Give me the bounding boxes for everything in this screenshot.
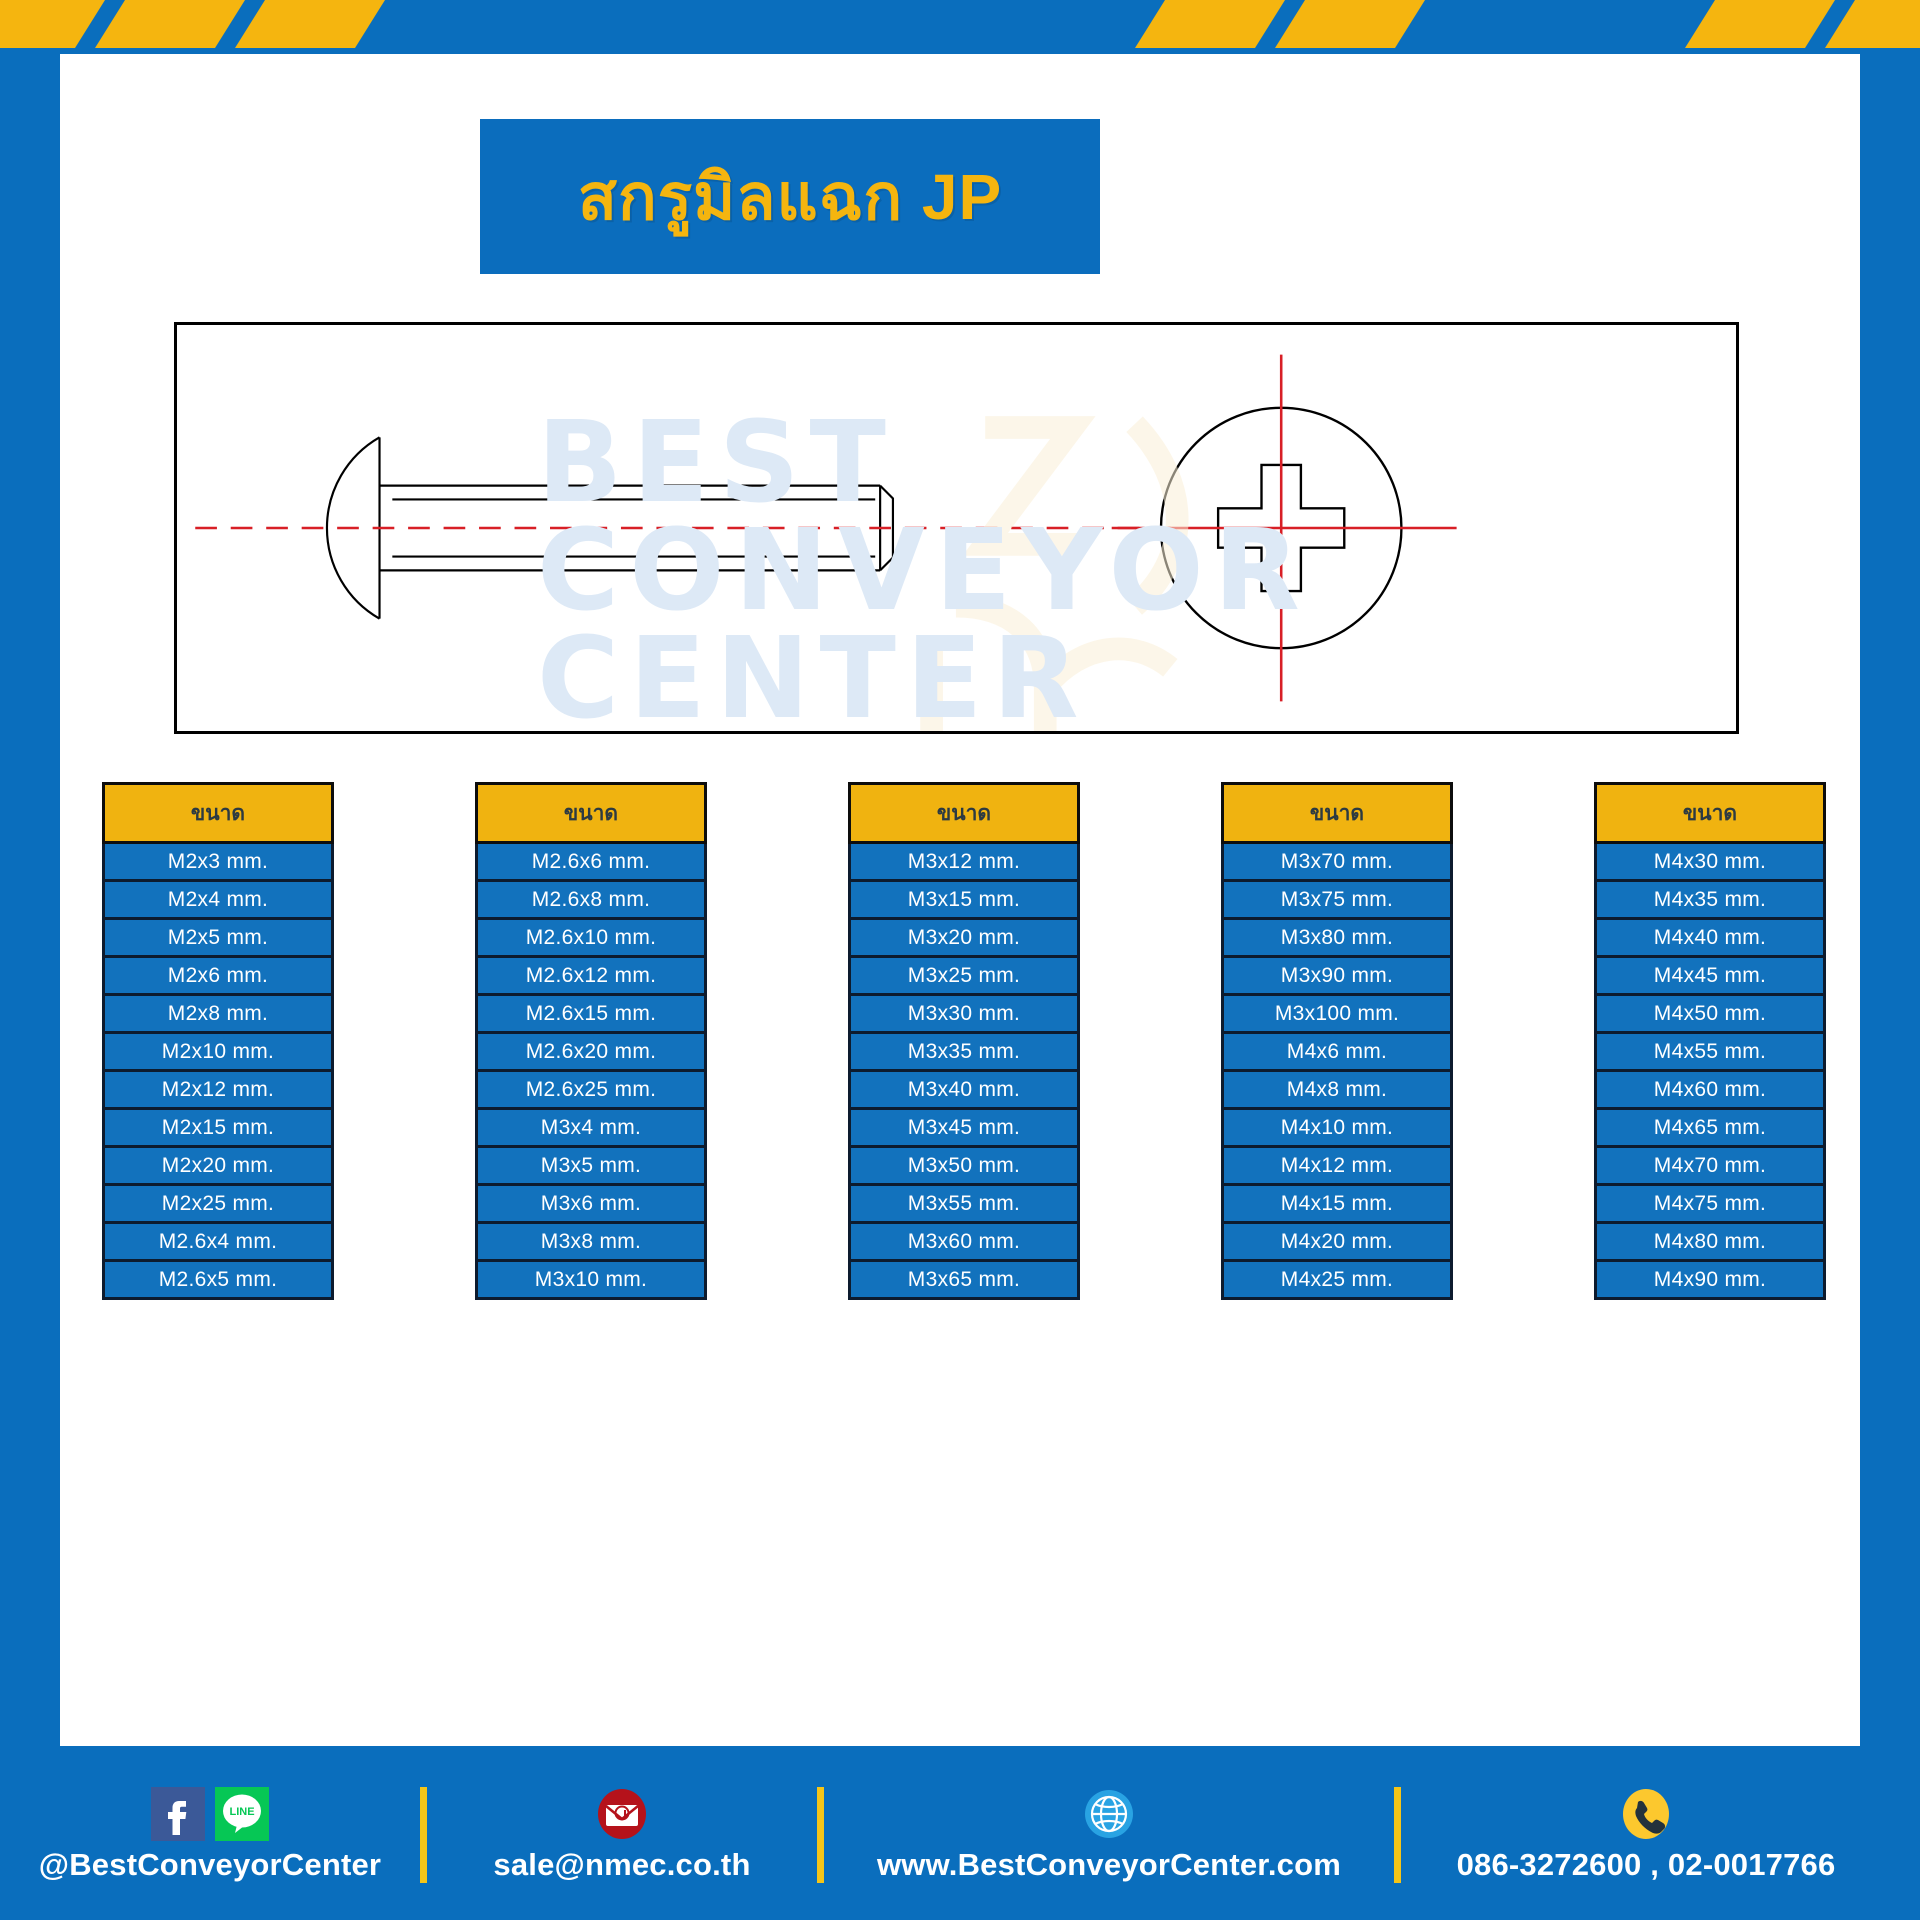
- table-row[interactable]: M3x30 mm.: [848, 996, 1080, 1034]
- size-table-4: ขนาด M3x70 mm. M3x75 mm. M3x80 mm. M3x90…: [1221, 782, 1453, 1300]
- poster-root: สกรูมิลแฉก JP BEST CONVEYOR CENTER: [0, 0, 1920, 1920]
- table-row[interactable]: M4x90 mm.: [1594, 1262, 1826, 1300]
- table-row[interactable]: M2.6x25 mm.: [475, 1072, 707, 1110]
- table-row[interactable]: M4x35 mm.: [1594, 882, 1826, 920]
- table-row[interactable]: M3x60 mm.: [848, 1224, 1080, 1262]
- table-row[interactable]: M2.6x5 mm.: [102, 1262, 334, 1300]
- table-row[interactable]: M3x45 mm.: [848, 1110, 1080, 1148]
- table-row[interactable]: M2x10 mm.: [102, 1034, 334, 1072]
- size-tables: ขนาด M2x3 mm. M2x4 mm. M2x5 mm. M2x6 mm.…: [102, 782, 1826, 1300]
- table-header: ขนาด: [1594, 782, 1826, 844]
- table-row[interactable]: M3x90 mm.: [1221, 958, 1453, 996]
- email-icon[interactable]: [595, 1787, 649, 1841]
- table-row[interactable]: M2.6x20 mm.: [475, 1034, 707, 1072]
- table-row[interactable]: M2.6x15 mm.: [475, 996, 707, 1034]
- screw-drawing: [177, 325, 1736, 731]
- table-header: ขนาด: [848, 782, 1080, 844]
- footer-divider: [1394, 1787, 1401, 1883]
- line-icon[interactable]: LINE: [215, 1787, 269, 1841]
- table-row[interactable]: M3x80 mm.: [1221, 920, 1453, 958]
- table-row[interactable]: M3x40 mm.: [848, 1072, 1080, 1110]
- size-table-2: ขนาด M2.6x6 mm. M2.6x8 mm. M2.6x10 mm. M…: [475, 782, 707, 1300]
- table-row[interactable]: M4x45 mm.: [1594, 958, 1826, 996]
- top-chevron-band: [0, 0, 1920, 48]
- table-row[interactable]: M4x70 mm.: [1594, 1148, 1826, 1186]
- table-row[interactable]: M3x10 mm.: [475, 1262, 707, 1300]
- title-plate: สกรูมิลแฉก JP: [480, 119, 1100, 274]
- footer-divider: [420, 1787, 427, 1883]
- content-card: สกรูมิลแฉก JP BEST CONVEYOR CENTER: [56, 50, 1864, 1750]
- svg-text:LINE: LINE: [229, 1806, 254, 1818]
- email-address: sale@nmec.co.th: [493, 1847, 750, 1883]
- footer-social[interactable]: LINE @BestConveyorCenter: [0, 1787, 420, 1883]
- table-row[interactable]: M2x20 mm.: [102, 1148, 334, 1186]
- page-title: สกรูมิลแฉก JP: [578, 165, 1002, 229]
- contact-footer: LINE @BestConveyorCenter sale@nmec.co.th: [0, 1750, 1920, 1920]
- table-row[interactable]: M4x20 mm.: [1221, 1224, 1453, 1262]
- table-row[interactable]: M4x25 mm.: [1221, 1262, 1453, 1300]
- table-row[interactable]: M4x15 mm.: [1221, 1186, 1453, 1224]
- table-row[interactable]: M4x55 mm.: [1594, 1034, 1826, 1072]
- footer-divider: [817, 1787, 824, 1883]
- table-row[interactable]: M3x35 mm.: [848, 1034, 1080, 1072]
- table-row[interactable]: M3x4 mm.: [475, 1110, 707, 1148]
- table-row[interactable]: M4x12 mm.: [1221, 1148, 1453, 1186]
- table-row[interactable]: M4x80 mm.: [1594, 1224, 1826, 1262]
- table-row[interactable]: M2x3 mm.: [102, 844, 334, 882]
- table-row[interactable]: M2x6 mm.: [102, 958, 334, 996]
- table-row[interactable]: M3x50 mm.: [848, 1148, 1080, 1186]
- social-handle: @BestConveyorCenter: [39, 1847, 381, 1883]
- table-row[interactable]: M3x15 mm.: [848, 882, 1080, 920]
- table-row[interactable]: M3x6 mm.: [475, 1186, 707, 1224]
- table-row[interactable]: M2.6x10 mm.: [475, 920, 707, 958]
- table-row[interactable]: M2x4 mm.: [102, 882, 334, 920]
- facebook-icon[interactable]: [151, 1787, 205, 1841]
- globe-icon[interactable]: [1082, 1787, 1136, 1841]
- table-row[interactable]: M4x50 mm.: [1594, 996, 1826, 1034]
- table-row[interactable]: M2x5 mm.: [102, 920, 334, 958]
- footer-phone[interactable]: 086-3272600 , 02-0017766: [1401, 1787, 1891, 1883]
- table-row[interactable]: M3x70 mm.: [1221, 844, 1453, 882]
- footer-email[interactable]: sale@nmec.co.th: [427, 1787, 817, 1883]
- table-row[interactable]: M4x65 mm.: [1594, 1110, 1826, 1148]
- table-row[interactable]: M3x8 mm.: [475, 1224, 707, 1262]
- technical-drawing-frame: BEST CONVEYOR CENTER: [174, 322, 1739, 734]
- size-table-1: ขนาด M2x3 mm. M2x4 mm. M2x5 mm. M2x6 mm.…: [102, 782, 334, 1300]
- table-row[interactable]: M3x100 mm.: [1221, 996, 1453, 1034]
- size-table-5: ขนาด M4x30 mm. M4x35 mm. M4x40 mm. M4x45…: [1594, 782, 1826, 1300]
- table-row[interactable]: M2.6x8 mm.: [475, 882, 707, 920]
- table-row[interactable]: M2x8 mm.: [102, 996, 334, 1034]
- table-row[interactable]: M2x12 mm.: [102, 1072, 334, 1110]
- size-table-3: ขนาด M3x12 mm. M3x15 mm. M3x20 mm. M3x25…: [848, 782, 1080, 1300]
- website-url: www.BestConveyorCenter.com: [877, 1847, 1341, 1883]
- table-header: ขนาด: [475, 782, 707, 844]
- table-row[interactable]: M4x8 mm.: [1221, 1072, 1453, 1110]
- table-row[interactable]: M4x6 mm.: [1221, 1034, 1453, 1072]
- table-row[interactable]: M2.6x12 mm.: [475, 958, 707, 996]
- table-row[interactable]: M4x10 mm.: [1221, 1110, 1453, 1148]
- table-row[interactable]: M4x75 mm.: [1594, 1186, 1826, 1224]
- table-row[interactable]: M2x15 mm.: [102, 1110, 334, 1148]
- table-row[interactable]: M3x55 mm.: [848, 1186, 1080, 1224]
- footer-website[interactable]: www.BestConveyorCenter.com: [824, 1787, 1394, 1883]
- phone-icon[interactable]: [1619, 1787, 1673, 1841]
- social-icons: LINE: [151, 1787, 269, 1841]
- table-row[interactable]: M3x75 mm.: [1221, 882, 1453, 920]
- table-header: ขนาด: [102, 782, 334, 844]
- table-row[interactable]: M3x65 mm.: [848, 1262, 1080, 1300]
- table-row[interactable]: M4x40 mm.: [1594, 920, 1826, 958]
- table-row[interactable]: M2.6x4 mm.: [102, 1224, 334, 1262]
- table-row[interactable]: M3x25 mm.: [848, 958, 1080, 996]
- table-row[interactable]: M3x5 mm.: [475, 1148, 707, 1186]
- table-row[interactable]: M4x60 mm.: [1594, 1072, 1826, 1110]
- table-row[interactable]: M3x20 mm.: [848, 920, 1080, 958]
- phone-number: 086-3272600 , 02-0017766: [1457, 1847, 1836, 1883]
- table-header: ขนาด: [1221, 782, 1453, 844]
- table-row[interactable]: M4x30 mm.: [1594, 844, 1826, 882]
- table-row[interactable]: M3x12 mm.: [848, 844, 1080, 882]
- table-row[interactable]: M2x25 mm.: [102, 1186, 334, 1224]
- table-row[interactable]: M2.6x6 mm.: [475, 844, 707, 882]
